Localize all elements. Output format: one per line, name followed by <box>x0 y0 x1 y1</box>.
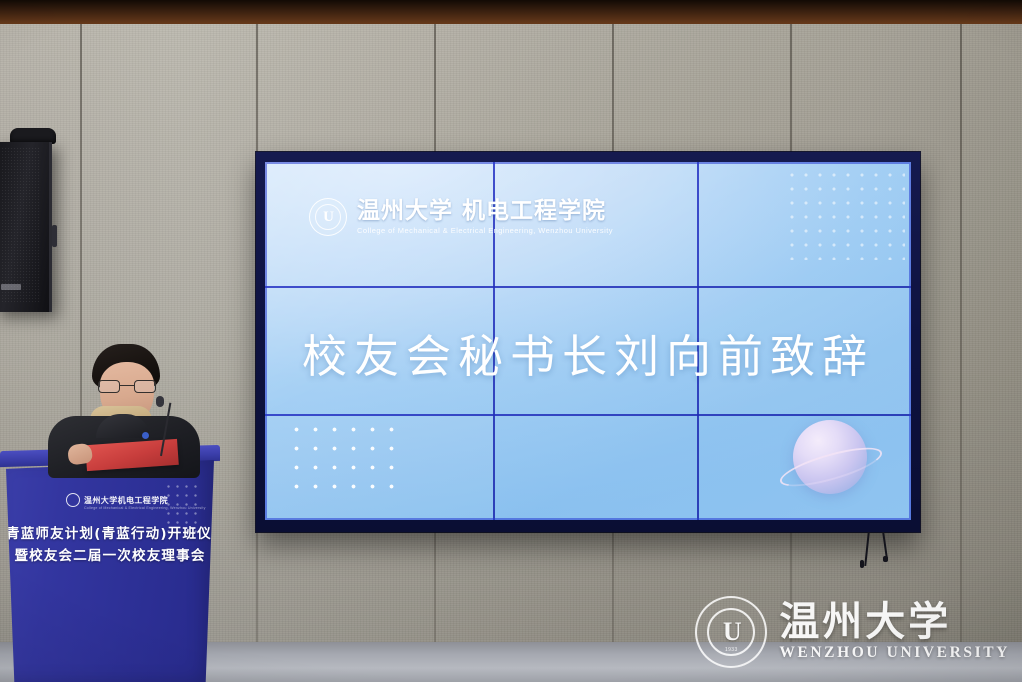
photo-scene: U 温州大学 机电工程学院 College of Mechanical & El… <box>0 0 1022 682</box>
podium-front-panel: 温州大学机电工程学院 College of Mechanical & Elect… <box>6 460 214 682</box>
watermark-text: 温州大学 WENZHOU UNIVERSITY <box>779 602 1010 662</box>
wall-panel-seam <box>960 24 962 644</box>
podium-logo-text-en: College of Mechanical & Electrical Engin… <box>84 506 206 510</box>
dot-grid-icon <box>287 420 402 498</box>
slide-header-title-cn: 温州大学 机电工程学院 <box>357 199 613 223</box>
watermark: U 1933 温州大学 WENZHOU UNIVERSITY <box>695 596 1010 668</box>
seal-monogram: U <box>310 199 346 235</box>
glasses-bridge <box>120 385 134 386</box>
slide-header-title-en: College of Mechanical & Electrical Engin… <box>357 226 613 235</box>
podium-banner-line-1: 青蓝师友计划(青蓝行动)开班仪式 <box>6 522 214 542</box>
podium-banner-line-2: 暨校友会二届一次校友理事会 <box>6 544 214 564</box>
watermark-name-cn: 温州大学 <box>779 602 1010 642</box>
ringed-planet-icon <box>785 414 877 506</box>
wenzhou-university-seal-icon: U <box>309 198 347 236</box>
wenzhou-university-seal-icon <box>66 493 80 507</box>
glasses-lens-right <box>134 380 156 393</box>
slide-header: U 温州大学 机电工程学院 College of Mechanical & El… <box>309 198 613 236</box>
presenter-person <box>34 344 206 474</box>
glasses-lens-left <box>98 380 120 393</box>
loudspeaker-grill <box>0 147 41 302</box>
cable-connector <box>860 560 864 568</box>
dot-grid-icon <box>785 168 905 260</box>
podium: 温州大学机电工程学院 College of Mechanical & Elect… <box>0 448 224 682</box>
video-wall-screen: U 温州大学 机电工程学院 College of Mechanical & El… <box>265 162 911 520</box>
watermark-name-en: WENZHOU UNIVERSITY <box>779 644 1010 662</box>
video-wall-display[interactable]: U 温州大学 机电工程学院 College of Mechanical & El… <box>256 152 920 532</box>
loudspeaker-side-panel <box>52 225 57 247</box>
slide-header-text: 温州大学 机电工程学院 College of Mechanical & Elec… <box>357 199 613 234</box>
slide-main-title: 校友会秘书长刘向前致辞 <box>265 320 911 385</box>
watermark-seal-year: 1933 <box>697 647 765 653</box>
podium-logo-text-cn: 温州大学机电工程学院 <box>84 495 168 506</box>
microphone-icon <box>156 396 164 407</box>
cable-connector <box>883 556 888 562</box>
podium-logo: 温州大学机电工程学院 <box>66 493 168 507</box>
loudspeaker-icon <box>0 142 52 312</box>
watermark-seal-monogram: U <box>697 598 765 666</box>
eyeglasses-icon <box>98 380 156 393</box>
video-wall-seam-horizontal <box>265 286 911 288</box>
wenzhou-university-seal-icon: U 1933 <box>695 596 767 668</box>
loudspeaker-badge <box>1 284 21 290</box>
presenter-lapel-pin <box>142 432 149 439</box>
